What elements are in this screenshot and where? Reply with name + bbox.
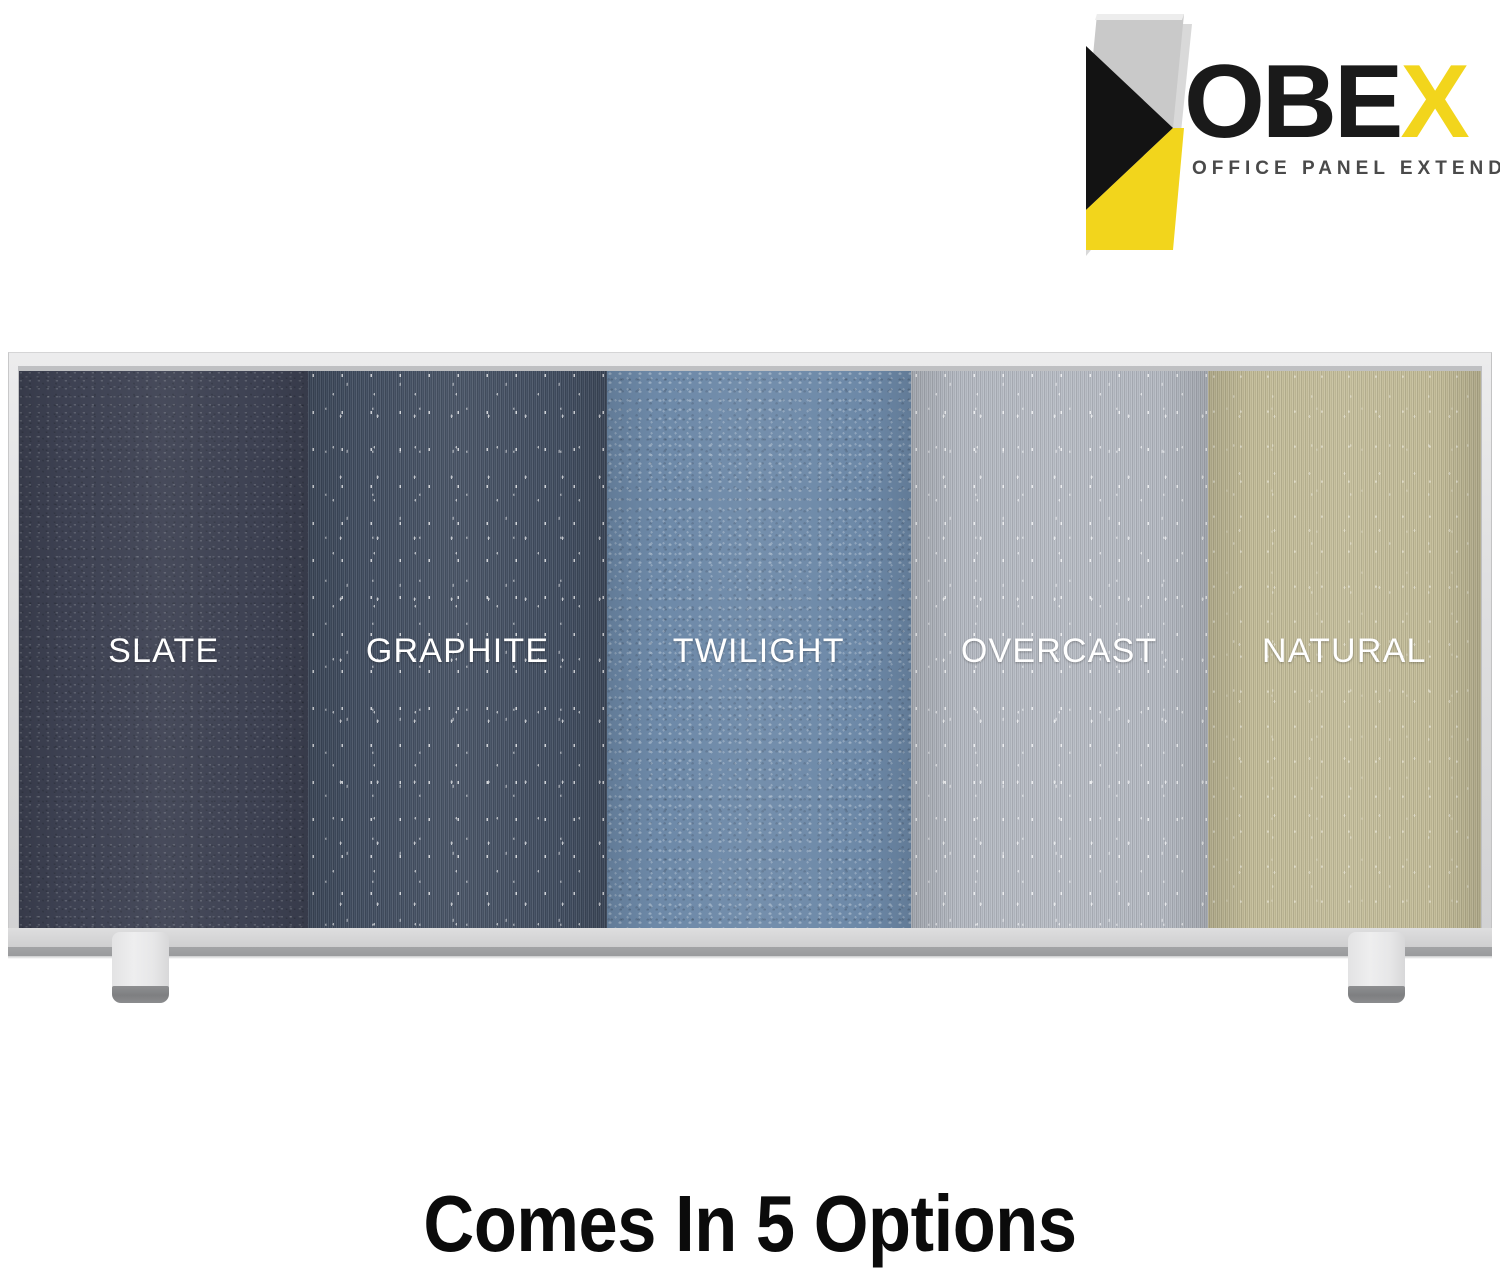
swatch-twilight: TWILIGHT — [607, 371, 911, 928]
obex-logo-mark — [1072, 10, 1202, 258]
fabric-panel: SLATE GRAPHITE TWILIGHT OVERCAST NATURAL — [8, 352, 1492, 960]
foot-body — [1348, 932, 1405, 994]
swatch-natural: NATURAL — [1208, 371, 1481, 928]
foot-cap — [112, 986, 169, 1003]
fabric-swatch-strip: SLATE GRAPHITE TWILIGHT OVERCAST NATURAL — [19, 371, 1481, 928]
obex-logo: OBEX OFFICE PANEL EXTENDERS — [1072, 8, 1472, 258]
obex-wordmark: OBEX — [1184, 52, 1484, 152]
swatch-label-natural: NATURAL — [1262, 632, 1427, 671]
panel-ground-shadow — [8, 956, 1492, 959]
swatch-label-slate: SLATE — [108, 632, 219, 671]
logo-tagline: OFFICE PANEL EXTENDERS — [1192, 158, 1500, 180]
foot-cap — [1348, 986, 1405, 1003]
panel-bottom-rail — [8, 928, 1492, 947]
swatch-label-graphite: GRAPHITE — [366, 632, 549, 671]
panel-foot-left — [112, 932, 169, 1003]
panel-bottom-rail-shadow — [8, 947, 1492, 956]
caption-text: Comes In 5 Options — [90, 1178, 1410, 1270]
swatch-label-twilight: TWILIGHT — [673, 632, 845, 671]
swatch-slate: SLATE — [19, 371, 308, 928]
wordmark-x: X — [1400, 44, 1466, 160]
panel-foot-right — [1348, 932, 1405, 1003]
foot-body — [112, 932, 169, 994]
swatch-graphite: GRAPHITE — [308, 371, 606, 928]
wordmark-obe: OBE — [1184, 44, 1400, 160]
swatch-label-overcast: OVERCAST — [961, 632, 1158, 671]
swatch-overcast: OVERCAST — [911, 371, 1208, 928]
